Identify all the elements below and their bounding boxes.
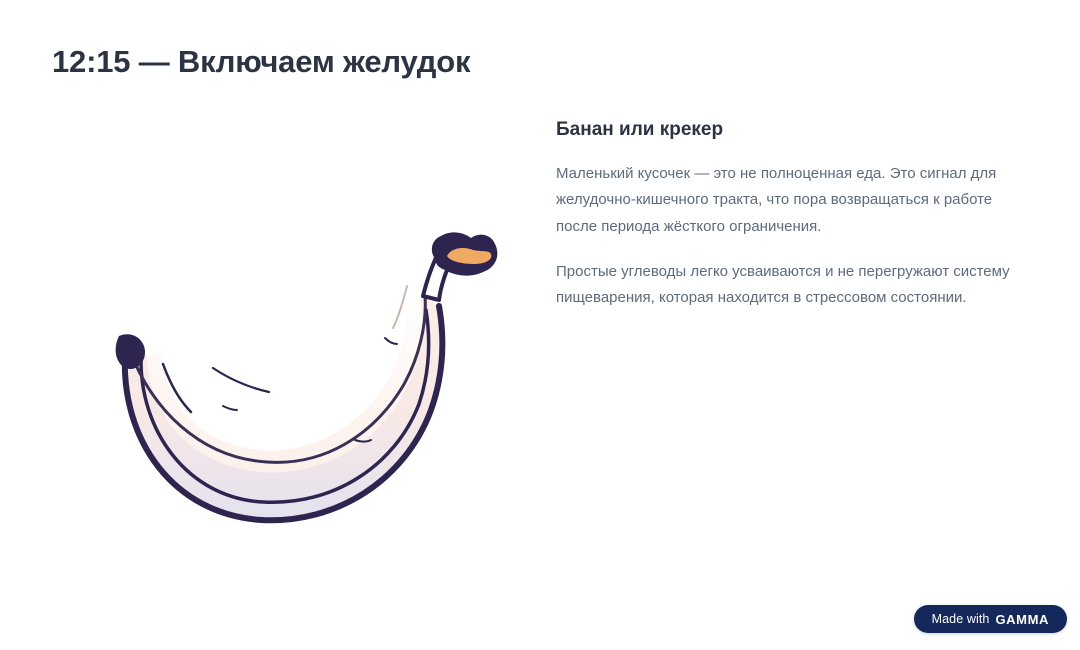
banana-detail-stroke-4 <box>385 338 397 344</box>
banana-illustration <box>55 110 515 590</box>
banana-left-tip <box>116 334 145 369</box>
content-paragraph-2: Простые углеводы легко усваиваются и не … <box>556 259 1018 312</box>
content-heading: Банан или крекер <box>556 118 1018 143</box>
content-column: Банан или крекер Маленький кусочек — это… <box>556 118 1018 312</box>
banana-illustration-svg <box>55 110 515 590</box>
page-title: 12:15 — Включаем желудок <box>52 44 470 80</box>
banana-detail-stroke-6 <box>393 286 407 328</box>
slide-canvas: 12:15 — Включаем желудок <box>0 0 1080 650</box>
gamma-brand-label: GAMMA <box>995 612 1049 627</box>
made-with-label: Made with <box>932 612 990 626</box>
content-paragraph-1: Маленький кусочек — это не полноценная е… <box>556 161 1018 241</box>
banana-detail-stroke-3 <box>223 406 237 410</box>
banana-detail-stroke-2 <box>213 368 269 392</box>
made-with-gamma-badge[interactable]: Made with GAMMA <box>914 605 1067 633</box>
